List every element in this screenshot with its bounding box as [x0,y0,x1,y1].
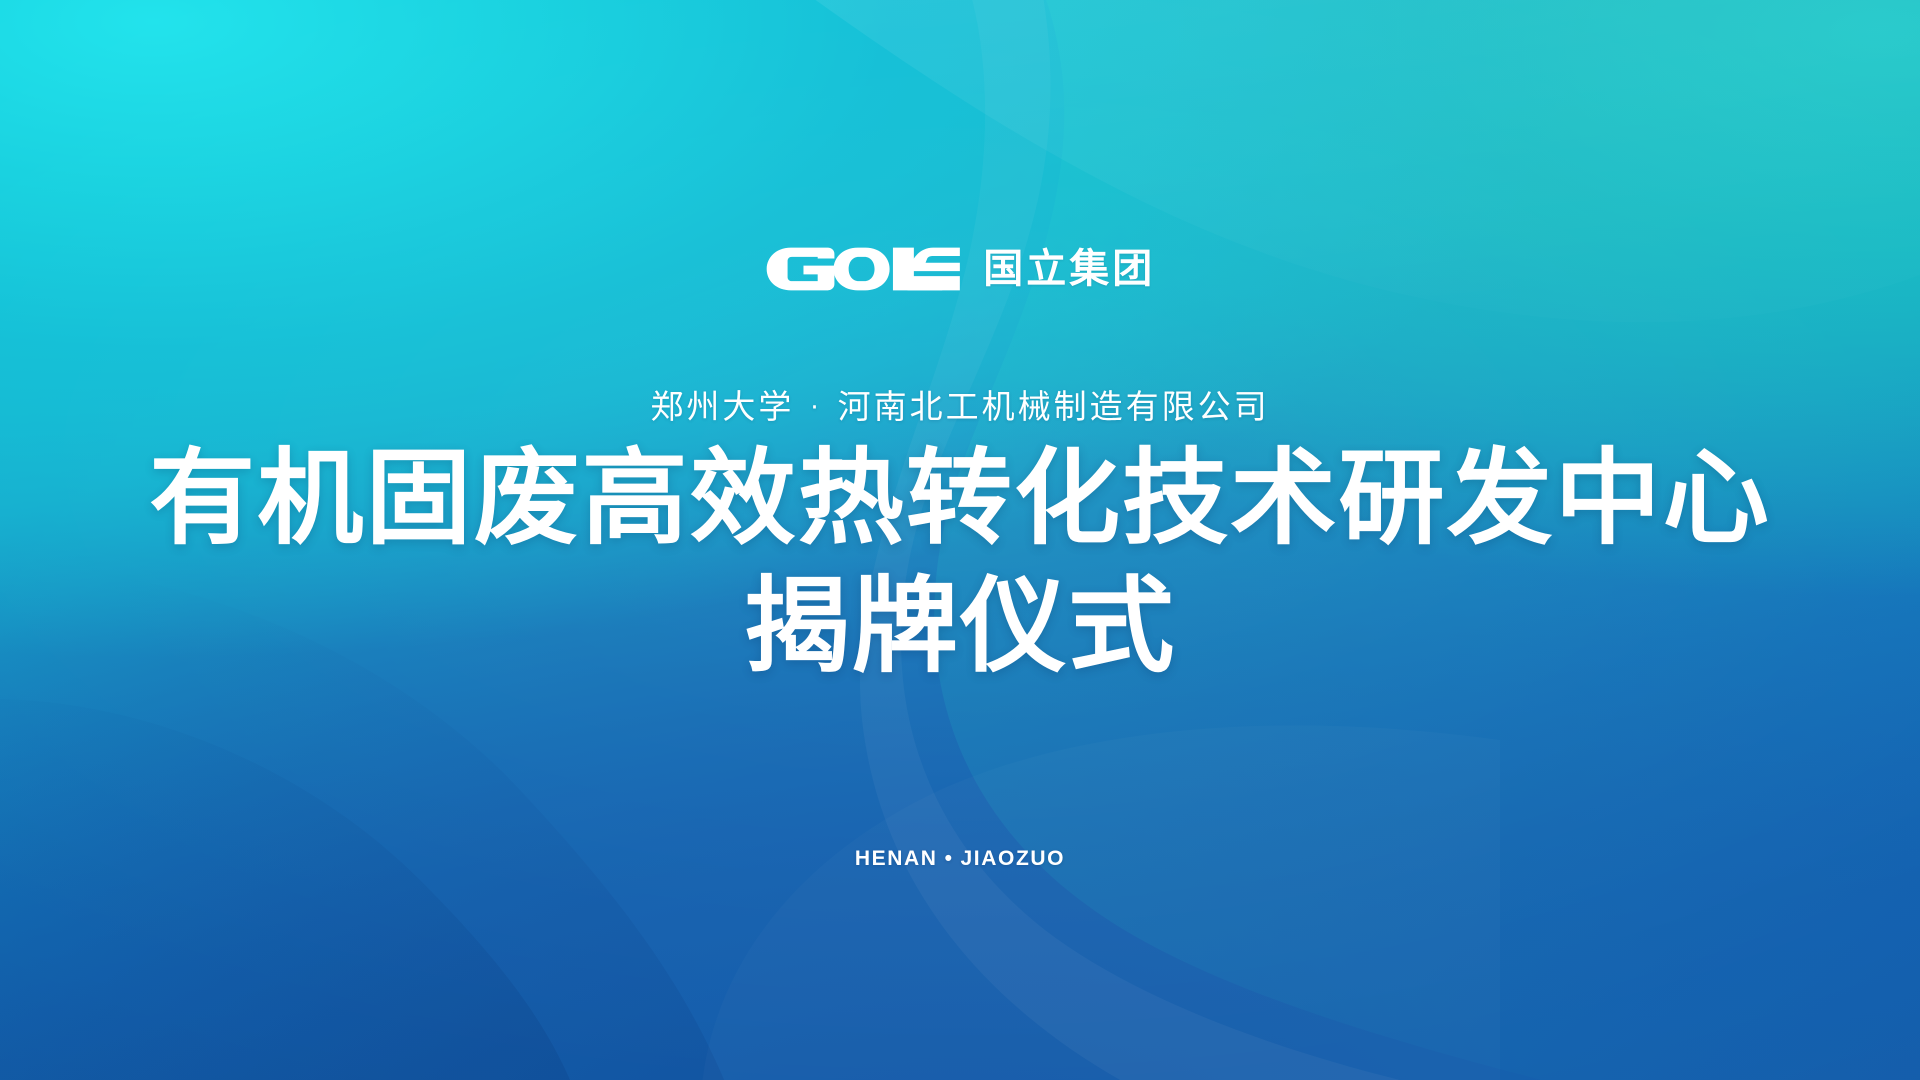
title-line-2: 揭牌仪式 [0,573,1920,679]
footer-dot: • [938,847,961,870]
subtitle-right: 河南北工机械制造有限公司 [838,387,1270,426]
slide-canvas: 国立集团 郑州大学·河南北工机械制造有限公司 有机固废高效热转化技术研发中心 揭… [0,0,1920,1080]
page-title: 有机固废高效热转化技术研发中心 揭牌仪式 [0,445,1920,679]
footer-right: JIAOZUO [961,847,1066,870]
slide-content: 国立集团 郑州大学·河南北工机械制造有限公司 有机固废高效热转化技术研发中心 揭… [0,0,1920,1080]
subtitle-separator: · [794,393,837,423]
subtitle-left: 郑州大学 [650,387,794,426]
title-line-1: 有机固废高效热转化技术研发中心 [0,445,1920,551]
location-footer: HENAN•JIAOZUO [0,847,1920,871]
brand-logo: 国立集团 [0,238,1920,300]
footer-left: HENAN [855,847,938,870]
subtitle: 郑州大学·河南北工机械制造有限公司 [0,387,1920,427]
gole-wordmark-icon [765,246,962,292]
logo-chinese-name: 国立集团 [983,249,1155,289]
